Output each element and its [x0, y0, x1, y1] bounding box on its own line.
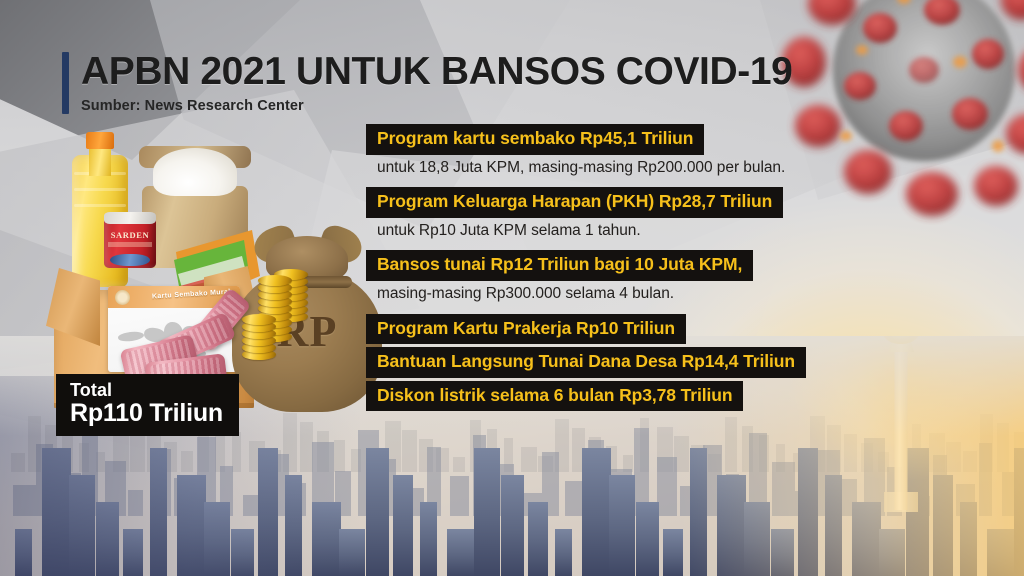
program-headline: Diskon listrik selama 6 bulan Rp3,78 Tri…	[366, 381, 743, 412]
building	[852, 502, 881, 576]
building	[663, 529, 683, 576]
building	[609, 475, 635, 576]
program-item: Bantuan Langsung Tunai Dana Desa Rp14,4 …	[366, 347, 966, 378]
building	[1014, 448, 1024, 576]
building	[393, 475, 413, 576]
building	[717, 475, 746, 576]
program-headline: Program Keluarga Harapan (PKH) Rp28,7 Tr…	[366, 187, 783, 218]
program-detail: untuk 18,8 Juta KPM, masing-masing Rp200…	[366, 155, 966, 185]
total-value: Rp110 Triliun	[70, 400, 223, 427]
building	[285, 475, 302, 576]
program-headline: Bansos tunai Rp12 Triliun bagi 10 Juta K…	[366, 250, 753, 281]
program-headline: Bantuan Langsung Tunai Dana Desa Rp14,4 …	[366, 347, 806, 378]
building	[15, 529, 32, 576]
building	[96, 502, 119, 576]
building	[258, 448, 278, 576]
poster-header: APBN 2021 UNTUK BANSOS COVID-19 Sumber: …	[62, 52, 792, 114]
building	[636, 502, 659, 576]
program-item: Bansos tunai Rp12 Triliun bagi 10 Juta K…	[366, 250, 966, 310]
program-headline: Program kartu sembako Rp45,1 Triliun	[366, 124, 704, 155]
page-title: APBN 2021 UNTUK BANSOS COVID-19	[81, 52, 792, 93]
program-item: Program kartu sembako Rp45,1 Triliununtu…	[366, 124, 966, 184]
building	[690, 448, 707, 576]
building	[69, 475, 95, 576]
bansos-program-list: Program kartu sembako Rp45,1 Triliununtu…	[366, 124, 966, 414]
building	[231, 529, 254, 576]
building	[744, 502, 770, 576]
building	[474, 448, 500, 576]
building	[312, 502, 341, 576]
program-detail: masing-masing Rp300.000 selama 4 bulan.	[366, 281, 966, 311]
garuda-seal-icon	[115, 290, 130, 305]
building	[501, 475, 524, 576]
title-accent-bar	[62, 52, 69, 114]
building	[771, 529, 794, 576]
program-headline: Program Kartu Prakerja Rp10 Triliun	[366, 314, 686, 345]
program-item: Program Keluarga Harapan (PKH) Rp28,7 Tr…	[366, 187, 966, 247]
oil-bottle-rib	[74, 188, 126, 191]
program-item: Program Kartu Prakerja Rp10 Triliun	[366, 314, 966, 345]
sardine-can-stripe	[108, 242, 152, 247]
building	[555, 529, 572, 576]
building	[366, 448, 389, 576]
building	[447, 529, 476, 576]
building	[825, 475, 842, 576]
program-item: Diskon listrik selama 6 bulan Rp3,78 Tri…	[366, 381, 966, 412]
building	[42, 448, 71, 576]
rice-grains	[153, 148, 237, 196]
oil-bottle-neck	[89, 146, 111, 176]
oil-bottle-rib	[74, 204, 126, 207]
source-subtitle: Sumber: News Research Center	[81, 98, 792, 114]
building	[582, 448, 611, 576]
program-detail: untuk Rp10 Juta KPM selama 1 tahun.	[366, 218, 966, 248]
building	[177, 475, 206, 576]
gold-coin	[258, 275, 292, 286]
building	[204, 502, 230, 576]
sardine-can-label: SARDEN	[104, 230, 156, 240]
building	[339, 529, 365, 576]
building	[987, 529, 1016, 576]
infographic-poster: APBN 2021 UNTUK BANSOS COVID-19 Sumber: …	[0, 0, 1024, 576]
total-label: Total	[70, 381, 223, 400]
sardine-can-lid	[104, 212, 156, 224]
total-badge: Total Rp110 Triliun	[56, 374, 239, 436]
gold-coin	[242, 314, 276, 325]
building	[960, 502, 977, 576]
building	[420, 502, 437, 576]
building	[933, 475, 953, 576]
building	[879, 529, 905, 576]
building	[123, 529, 143, 576]
building	[150, 448, 167, 576]
oil-bottle-cap	[86, 132, 114, 149]
building	[528, 502, 548, 576]
